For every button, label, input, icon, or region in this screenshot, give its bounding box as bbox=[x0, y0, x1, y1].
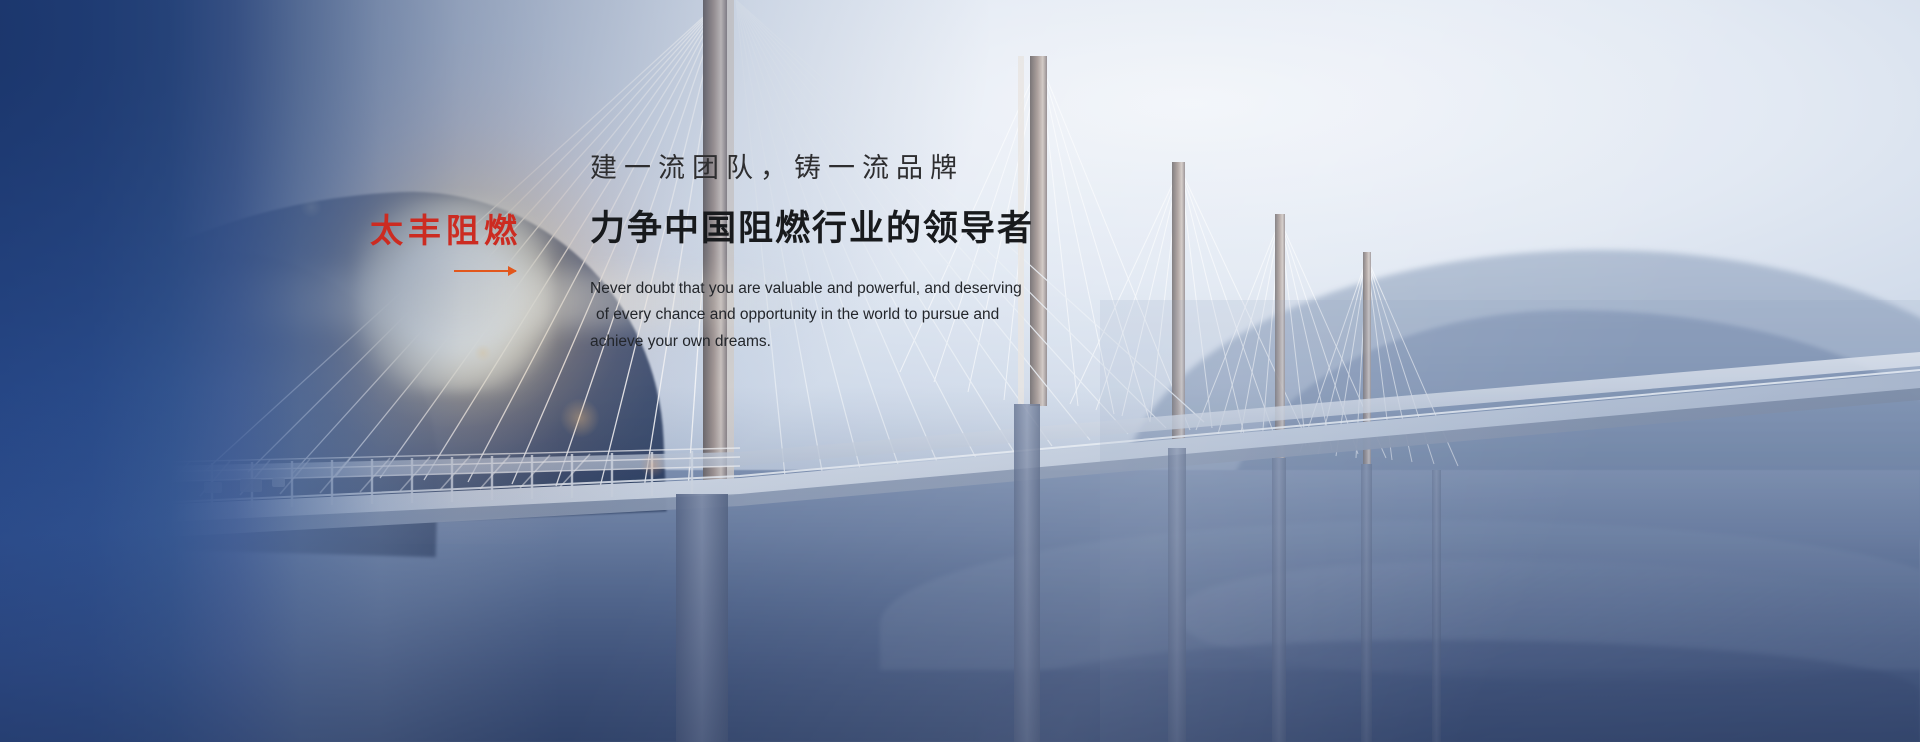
banner-headline: 力争中国阻燃行业的领导者 bbox=[590, 208, 1110, 250]
paragraph-line-1: Never doubt that you are valuable and po… bbox=[590, 276, 1052, 303]
banner-paragraph: Never doubt that you are valuable and po… bbox=[590, 276, 1052, 356]
banner-copy: 建一流团队，铸一流品牌 力争中国阻燃行业的领导者 Never doubt tha… bbox=[590, 152, 1110, 356]
hero-banner: 太丰阻燃 建一流团队，铸一流品牌 力争中国阻燃行业的领导者 Never doub… bbox=[0, 0, 1920, 742]
banner-subheadline: 建一流团队，铸一流品牌 bbox=[590, 152, 1110, 186]
bottom-vignette bbox=[0, 0, 1920, 742]
brand-logo[interactable]: 太丰阻燃 bbox=[370, 214, 538, 270]
brand-logo-text: 太丰阻燃 bbox=[370, 214, 538, 247]
paragraph-line-2: of every chance and opportunity in the w… bbox=[590, 302, 1052, 329]
paragraph-line-3: achieve your own dreams. bbox=[590, 329, 1052, 356]
